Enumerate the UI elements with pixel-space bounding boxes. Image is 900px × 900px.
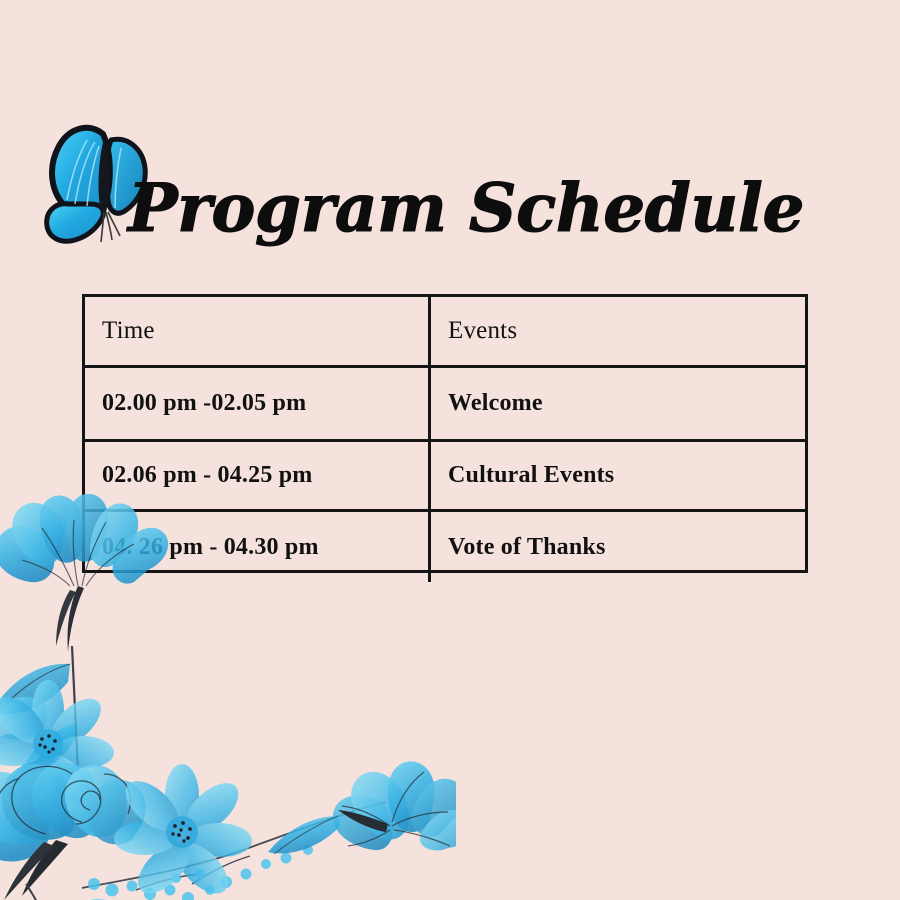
table-row: 02.00 pm -02.05 pm Welcome — [85, 367, 805, 441]
column-header-time: Time — [85, 297, 430, 367]
cell-time: 04. 26 pm - 04.30 pm — [85, 511, 430, 583]
page-title-text: Program Schedule — [128, 166, 828, 250]
cell-event: Welcome — [430, 367, 806, 441]
cell-event: Vote of Thanks — [430, 511, 806, 583]
cell-event: Cultural Events — [430, 441, 806, 511]
column-header-events: Events — [430, 297, 806, 367]
cell-time: 02.00 pm -02.05 pm — [85, 367, 430, 441]
program-schedule-poster: Program Schedule Time Events 02.00 pm -0… — [0, 0, 900, 900]
cell-time: 02.06 pm - 04.25 pm — [85, 441, 430, 511]
table-row: 02.06 pm - 04.25 pm Cultural Events — [85, 441, 805, 511]
table-header-row: Time Events — [85, 297, 805, 367]
schedule-table: Time Events 02.00 pm -02.05 pm Welcome 0… — [82, 294, 808, 573]
table-row: 04. 26 pm - 04.30 pm Vote of Thanks — [85, 511, 805, 583]
page-title: Program Schedule — [128, 166, 828, 250]
